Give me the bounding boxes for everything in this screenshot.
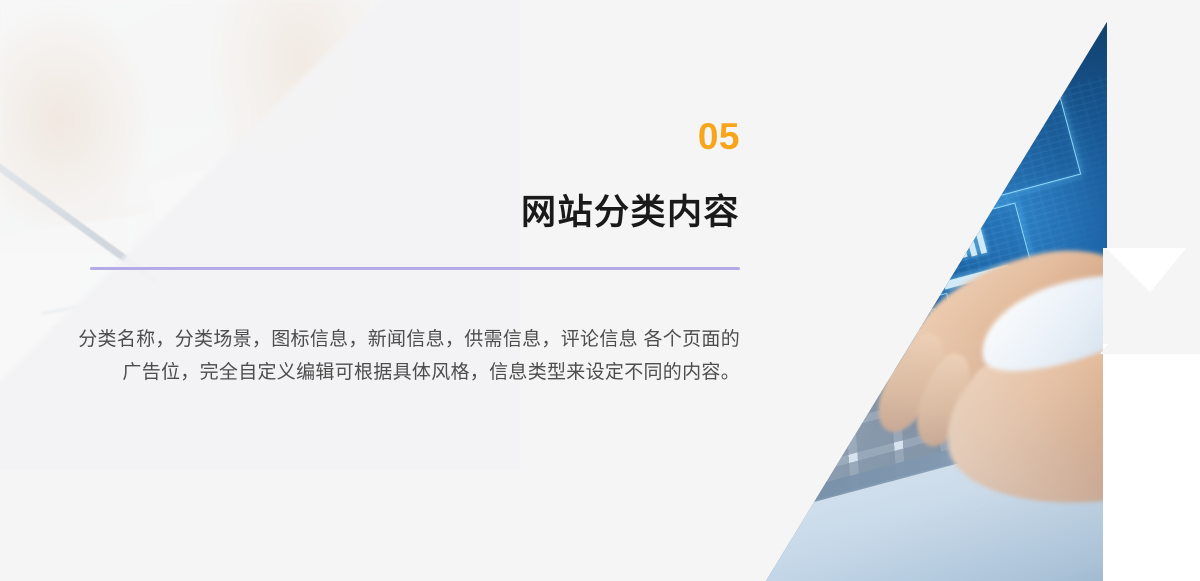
hud-panel-document: [790, 236, 884, 326]
hud-panel-window: [847, 138, 966, 255]
hud-panel-small-top: [884, 105, 920, 139]
slide-canvas: 05 网站分类内容 分类名称，分类场景，图标信息，新闻信息，供需信息，评论信息 …: [0, 0, 1200, 581]
corner-wedge-white: [1103, 338, 1200, 581]
decor-photo-right: [740, 0, 1107, 581]
text-content: 05 网站分类内容 分类名称，分类场景，图标信息，新闻信息，供需信息，评论信息 …: [0, 0, 740, 581]
page-title: 网站分类内容: [0, 192, 740, 233]
photo-right-scene: [740, 0, 1107, 581]
hud-panel-edge: [748, 293, 812, 346]
body-paragraph: 分类名称，分类场景，图标信息，新闻信息，供需信息，评论信息 各个页面的广告位，完…: [62, 324, 740, 389]
section-number: 05: [0, 118, 740, 155]
title-divider: [90, 267, 740, 270]
